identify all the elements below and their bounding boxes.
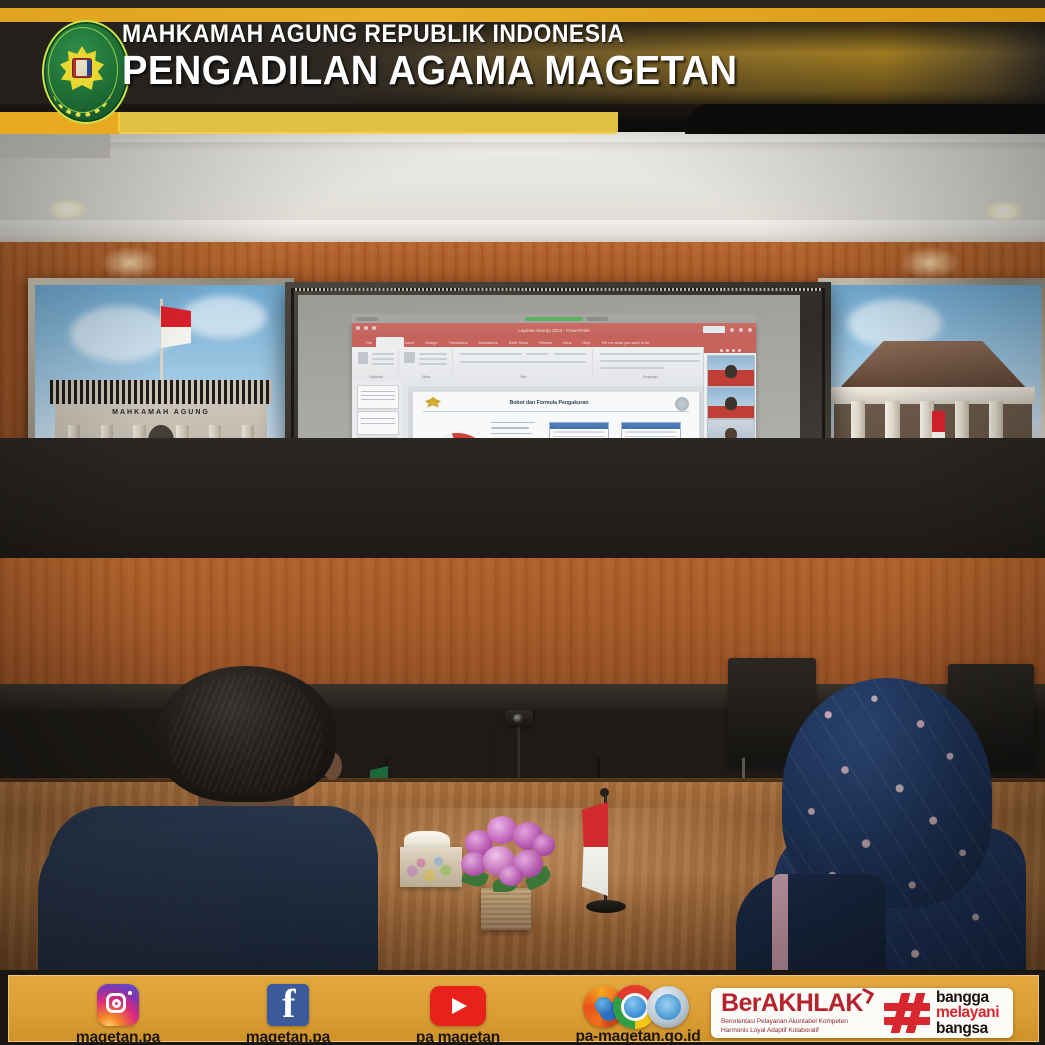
ribbon[interactable]: Clipboard Slides	[352, 347, 756, 382]
chat-icon[interactable]	[738, 349, 741, 352]
os-menu-pill	[356, 317, 378, 321]
header-titles: MAHKAMAH AGUNG REPUBLIK INDONESIA PENGAD…	[122, 22, 784, 92]
court-name: PENGADILAN AGAMA MAGETAN	[122, 50, 738, 92]
participant-thumbnail-2[interactable]	[707, 387, 755, 419]
new-slide-icon[interactable]	[404, 352, 415, 363]
flower-vase	[481, 888, 531, 930]
safari-icon[interactable]	[647, 986, 689, 1028]
conference-panel-header	[704, 347, 756, 353]
institution-name: MAHKAMAH AGUNG REPUBLIK INDONESIA	[122, 22, 731, 47]
participant-thumbnail-1[interactable]	[707, 355, 755, 387]
attendee-woman	[752, 678, 1045, 970]
copy-icon[interactable]	[372, 358, 394, 360]
banner-roof-comb	[50, 380, 272, 405]
group-label-slides: Slides	[400, 375, 452, 379]
reset-icon[interactable]	[419, 358, 447, 360]
undo-icon[interactable]	[364, 326, 368, 330]
tab-help[interactable]: Help	[582, 340, 590, 345]
instagram-handle: magetan.pa	[33, 1029, 203, 1045]
wall-light-glow-right	[900, 246, 960, 280]
slide-title: Bobot dan Formula Pengukuran	[459, 400, 639, 406]
meeting-photograph: MAHKAMAH AGUNG pa-magetan.go.id pa maget…	[0, 118, 1045, 970]
slogan-text: bangga melayani bangsa	[936, 990, 999, 1037]
ribbon-group-font[interactable]: Font	[454, 349, 593, 379]
paste-icon[interactable]	[358, 352, 368, 364]
tab-review[interactable]: Review	[539, 340, 552, 345]
social-website[interactable]: pa-magetan.go.id	[543, 984, 733, 1045]
camera-icon[interactable]	[726, 349, 729, 352]
tab-view[interactable]: View	[563, 340, 571, 345]
slogan-line-1: bangga	[936, 990, 999, 1006]
slide-thumbnail[interactable]	[357, 385, 399, 409]
layout-icon[interactable]	[419, 353, 447, 355]
slogan-line-2: melayani	[936, 1005, 999, 1021]
wall-dark-band	[0, 438, 1045, 568]
powerpoint-titlebar: Laporan Kinerja 2023 - PowerPoint	[352, 323, 756, 338]
header-notch	[118, 112, 618, 134]
berakhlak-subtitle-1: Berorientasi Pelayanan Akuntabel Kompete…	[721, 1018, 883, 1027]
flower-bouquet	[459, 808, 555, 894]
participants-icon[interactable]	[732, 349, 735, 352]
page-header: MAHKAMAH AGUNG REPUBLIK INDONESIA PENGAD…	[0, 0, 1045, 132]
slogan-line-3: bangsa	[936, 1021, 999, 1037]
banner-cloud-1	[847, 299, 942, 348]
tell-me-search[interactable]: Tell me what you want to do	[601, 340, 649, 345]
berakhlak-subtitle-2: Harmonis Loyal Adaptif Kolaboratif	[721, 1027, 883, 1036]
instagram-icon[interactable]	[97, 984, 139, 1026]
tab-insert[interactable]: Insert	[405, 340, 415, 345]
attendee-man	[48, 666, 378, 970]
court-seal-logo	[36, 18, 132, 122]
ribbon-tab-strip[interactable]: File Home Insert Design Transitions Anim…	[352, 338, 756, 347]
group-label-paragraph: Paragraph	[594, 375, 706, 379]
panel-heading	[622, 423, 680, 429]
os-tray-pill	[586, 317, 608, 321]
youtube-icon[interactable]	[430, 986, 486, 1026]
desk-flag-base	[586, 900, 626, 913]
window-title: Laporan Kinerja 2023 - PowerPoint	[518, 328, 590, 333]
poster-root: MAHKAMAH AGUNG REPUBLIK INDONESIA PENGAD…	[0, 0, 1045, 1045]
footer-bar: magetan.pa magetan.pa pa magetan	[8, 975, 1039, 1042]
tab-animations[interactable]: Animations	[478, 340, 497, 345]
camera-lens-icon	[513, 714, 523, 723]
group-label-font: Font	[454, 375, 592, 379]
banner-cloud-2	[181, 296, 267, 338]
bullets-row[interactable]	[600, 353, 700, 355]
hashtag-icon	[883, 993, 931, 1033]
zoom-meeting-pill[interactable]	[525, 317, 583, 321]
spacing-row[interactable]	[600, 367, 664, 369]
berakhlak-text-block: BerAKHLAK Berorientasi Pelayanan Akuntab…	[711, 991, 883, 1035]
sign-in-button[interactable]	[703, 326, 725, 333]
titlebar-right-controls[interactable]	[703, 326, 752, 333]
banner-cloud-1	[70, 306, 171, 362]
font-grow-icon[interactable]	[554, 353, 586, 355]
tab-file[interactable]: File	[366, 340, 372, 345]
maximize-icon[interactable]	[739, 328, 743, 332]
tab-design[interactable]: Design	[425, 340, 437, 345]
indonesian-flag-icon	[161, 306, 191, 348]
social-facebook[interactable]: magetan.pa	[203, 984, 373, 1045]
ceiling-light-left	[48, 200, 86, 220]
tab-transitions[interactable]: Transitions	[449, 340, 468, 345]
court-logo-icon	[675, 397, 689, 411]
page-footer: magetan.pa magetan.pa pa magetan	[0, 970, 1045, 1045]
attendee-hair	[156, 666, 336, 802]
attendee-shoulder	[38, 822, 238, 970]
group-label-clipboard: Clipboard	[354, 375, 398, 379]
cut-icon[interactable]	[372, 353, 394, 355]
seal-emblem-icon	[72, 58, 92, 78]
banner-building-caption: MAHKAMAH AGUNG	[35, 409, 287, 416]
social-links-row: magetan.pa magetan.pa pa magetan	[33, 984, 733, 1045]
redo-icon[interactable]	[372, 326, 376, 330]
indonesian-desk-flag	[582, 802, 608, 896]
berakhlak-tick-icon	[860, 990, 871, 1003]
align-row[interactable]	[600, 360, 700, 362]
font-size-select[interactable]	[526, 353, 548, 355]
facebook-handle: magetan.pa	[203, 1029, 373, 1045]
website-url: pa-magetan.go.id	[543, 1028, 733, 1045]
ribbon-group-paragraph[interactable]: Paragraph	[594, 349, 707, 379]
section-icon[interactable]	[419, 363, 447, 365]
berakhlak-badge: BerAKHLAK Berorientasi Pelayanan Akuntab…	[711, 988, 1013, 1038]
panel-heading	[550, 423, 608, 429]
youtube-handle: pa magetan	[373, 1029, 543, 1045]
tissue-box	[400, 847, 462, 887]
tab-slideshow[interactable]: Slide Show	[509, 340, 528, 345]
slide-title-rule	[423, 411, 689, 412]
close-icon[interactable]	[748, 328, 752, 332]
facebook-icon[interactable]	[267, 984, 309, 1026]
ribbon-group-clipboard[interactable]: Clipboard	[354, 349, 399, 379]
minimize-icon[interactable]	[730, 328, 734, 332]
font-style-row[interactable]	[460, 361, 586, 363]
quick-access-toolbar[interactable]	[356, 326, 376, 330]
save-icon[interactable]	[356, 326, 360, 330]
ceiling-beam-secondary	[105, 142, 1045, 154]
browser-icons[interactable]	[583, 984, 693, 1028]
wall-light-glow-left	[100, 246, 160, 280]
os-status-bar	[352, 314, 756, 323]
social-youtube[interactable]: pa magetan	[373, 984, 543, 1045]
header-curve	[685, 104, 1045, 134]
ceiling-light-right	[985, 202, 1023, 222]
hijab-trim	[772, 874, 788, 970]
format-painter-icon[interactable]	[372, 363, 394, 365]
mic-icon[interactable]	[720, 349, 723, 352]
slide-thumbnail[interactable]	[357, 411, 399, 435]
font-family-select[interactable]	[460, 353, 522, 355]
bangga-melayani-block: bangga melayani bangsa	[883, 990, 1013, 1037]
attendee-shoulder	[736, 874, 886, 970]
social-instagram[interactable]: magetan.pa	[33, 984, 203, 1045]
garuda-emblem-icon	[425, 397, 441, 411]
ribbon-group-slides[interactable]: Slides	[400, 349, 453, 379]
